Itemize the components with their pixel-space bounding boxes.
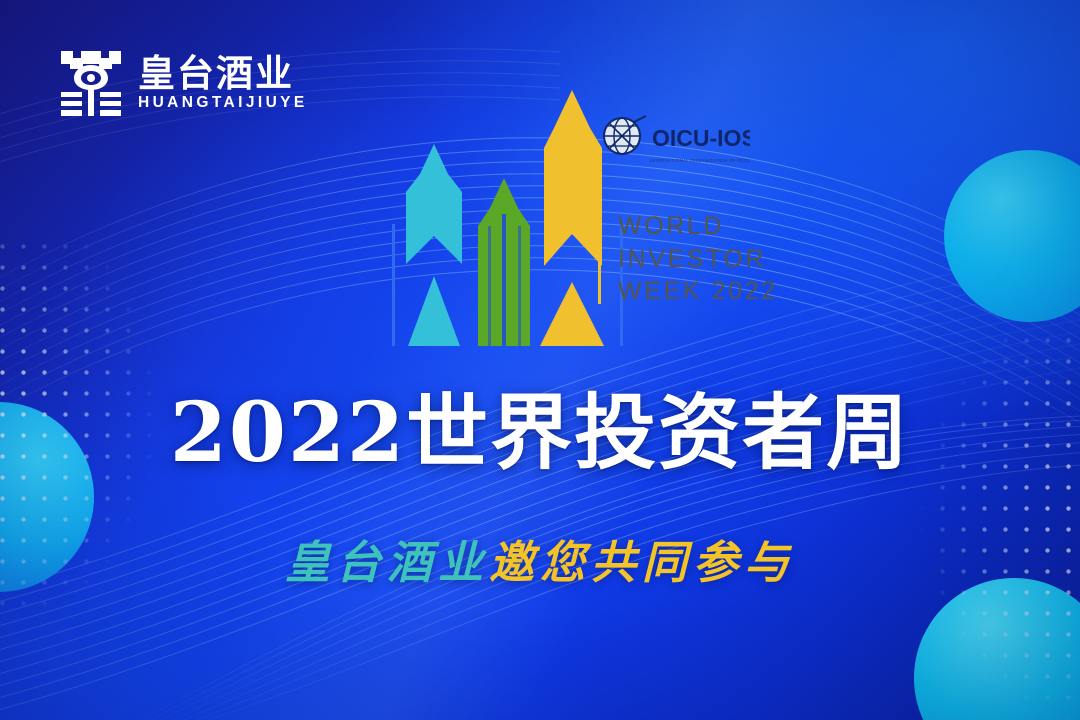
subtitle-block: 皇台酒业邀您共同参与	[0, 540, 1080, 585]
wiw-line-world: WORLD	[618, 214, 778, 239]
headline-block: 2022世界投资者周	[0, 392, 1080, 474]
wiw-text-block: WORLD INVESTOR WEEK 2022	[598, 214, 778, 304]
dot-grid-right	[890, 330, 1080, 720]
iosco-logo: OICU-IOSCO INTERNATIONAL ORGANIZATION OF…	[600, 114, 750, 172]
brand-name-cn: 皇台酒业	[138, 55, 308, 92]
brand-name-en: HUANGTAIJIUYE	[138, 95, 308, 111]
decor-circle-top-right	[944, 150, 1080, 322]
world-investor-week-logo: OICU-IOSCO INTERNATIONAL ORGANIZATION OF…	[392, 86, 752, 346]
globe-icon	[604, 116, 646, 154]
subtitle-part-brand: 皇台酒业	[285, 540, 489, 585]
huangtai-emblem-icon	[58, 48, 124, 118]
pencil-cyan	[406, 144, 462, 346]
brand-names: 皇台酒业 HUANGTAIJIUYE	[138, 55, 308, 111]
decor-circle-bottom-right	[914, 578, 1080, 720]
pencil-yellow	[540, 90, 604, 346]
wiw-line-week-2022: WEEK 2022	[618, 279, 778, 304]
iosco-wordmark: OICU-IOSCO	[652, 125, 750, 151]
poster-canvas: 皇台酒业 HUANGTAIJIUYE	[0, 0, 1080, 720]
pencil-rockets-icon	[392, 86, 624, 346]
iosco-tagline: INTERNATIONAL ORGANIZATION OF SECURITIES…	[650, 158, 750, 163]
brand-logo: 皇台酒业 HUANGTAIJIUYE	[58, 48, 308, 118]
page-title: 2022世界投资者周	[170, 392, 910, 474]
subtitle-part-invite: 邀您共同参与	[489, 540, 795, 585]
wiw-line-investor: INVESTOR	[618, 247, 778, 272]
